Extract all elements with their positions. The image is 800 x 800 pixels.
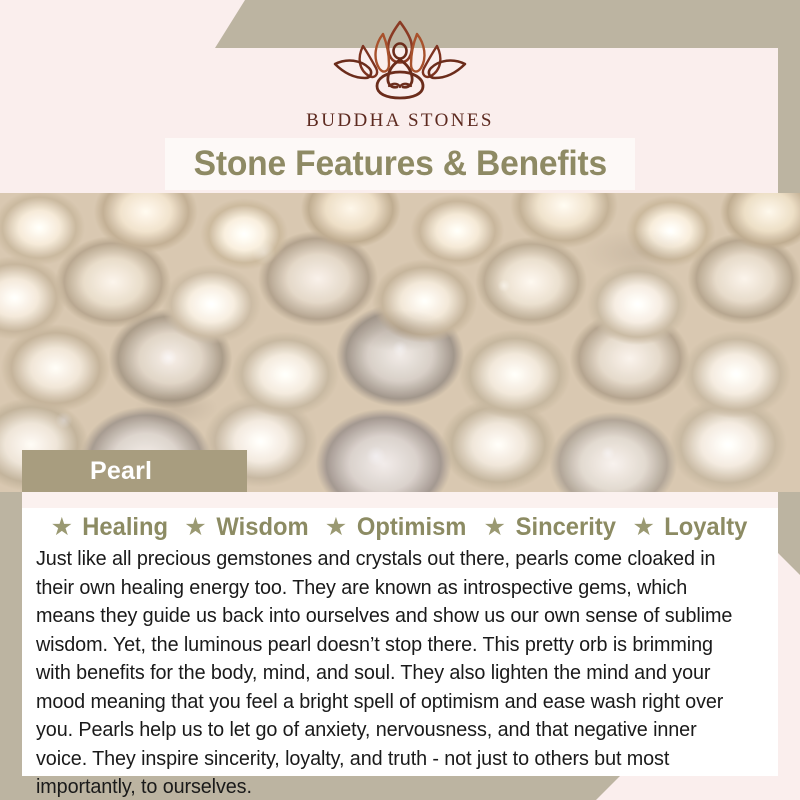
star-icon: ★: [184, 515, 206, 540]
benefit-item-optimism: ★ Optimism: [325, 513, 470, 542]
lotus-meditation-icon: [325, 14, 475, 106]
benefit-label: Wisdom: [216, 513, 308, 542]
star-icon: ★: [325, 515, 347, 540]
title-band: Stone Features & Benefits: [165, 138, 635, 190]
description-text: Just like all precious gemstones and cry…: [36, 545, 744, 800]
content-panel: ★ Healing ★ Wisdom ★ Optimism ★ Sincerit…: [22, 492, 778, 776]
star-icon: ★: [483, 515, 505, 540]
star-icon: ★: [51, 515, 73, 540]
stone-name-label: Pearl: [90, 457, 152, 486]
benefit-label: Healing: [82, 513, 168, 542]
pearl-photo: [0, 193, 800, 492]
stone-benefits-infographic: BUDDHA STONES Stone Features & Benefits …: [0, 0, 800, 800]
benefit-item-sincerity: ★ Sincerity: [483, 513, 618, 542]
benefit-item-wisdom: ★ Wisdom: [184, 513, 310, 542]
benefit-item-healing: ★ Healing: [51, 513, 171, 542]
star-icon: ★: [632, 515, 654, 540]
hero-image: Pearl: [0, 193, 800, 492]
benefit-label: Optimism: [357, 513, 467, 542]
pearl-sheen-layer: [0, 193, 800, 492]
panel-top-tint: [22, 492, 778, 508]
benefit-label: Loyalty: [664, 513, 747, 542]
stone-name-chip: Pearl: [22, 450, 247, 492]
benefits-list: ★ Healing ★ Wisdom ★ Optimism ★ Sincerit…: [22, 513, 778, 542]
brand-logo: BUDDHA STONES: [0, 14, 800, 132]
page-title: Stone Features & Benefits: [193, 144, 606, 184]
benefit-item-loyalty: ★ Loyalty: [632, 513, 749, 542]
benefit-label: Sincerity: [515, 513, 615, 542]
brand-name: BUDDHA STONES: [306, 110, 494, 132]
